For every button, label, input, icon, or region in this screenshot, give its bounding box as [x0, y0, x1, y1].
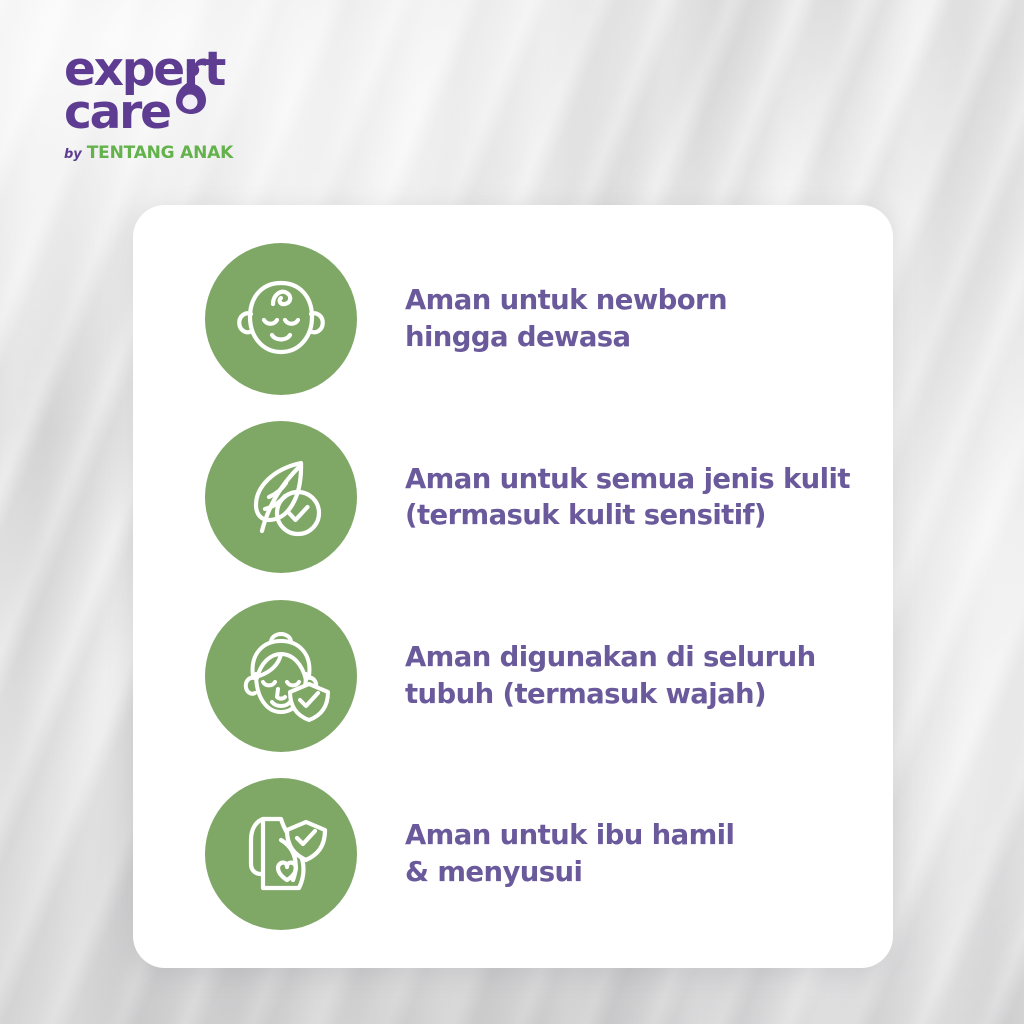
feature-label: Aman untuk ibu hamil & menyusui — [405, 817, 734, 890]
logo-tagline-by: by — [64, 147, 82, 162]
logo-tagline-name: TENTANG ANAK — [87, 143, 233, 163]
features-card: Aman untuk newborn hingga dewasa Ama — [133, 205, 893, 968]
logo-text-care: care — [64, 85, 170, 140]
logo-tagline: by TENTANG ANAK — [64, 143, 304, 163]
brand-logo: expert care by TENTANG ANAK — [64, 48, 304, 163]
feature-label: Aman untuk newborn hingga dewasa — [405, 282, 727, 355]
droplet-icon — [170, 63, 208, 115]
feature-label: Aman digunakan di seluruh tubuh (termasu… — [405, 639, 816, 712]
feature-label: Aman untuk semua jenis kulit (termasuk k… — [405, 461, 850, 534]
woman-face-shield-icon — [205, 600, 357, 752]
logo-text-care-wrap: care — [64, 91, 170, 134]
baby-face-icon — [205, 243, 357, 395]
leaf-check-icon — [205, 421, 357, 573]
feature-row: Aman digunakan di seluruh tubuh (termasu… — [205, 596, 853, 756]
poster-canvas: expert care by TENTANG ANAK — [0, 0, 1024, 1024]
feature-row: Aman untuk ibu hamil & menyusui — [205, 774, 853, 934]
pregnant-shield-icon — [205, 778, 357, 930]
feature-row: Aman untuk newborn hingga dewasa — [205, 239, 853, 399]
feature-row: Aman untuk semua jenis kulit (termasuk k… — [205, 417, 853, 577]
